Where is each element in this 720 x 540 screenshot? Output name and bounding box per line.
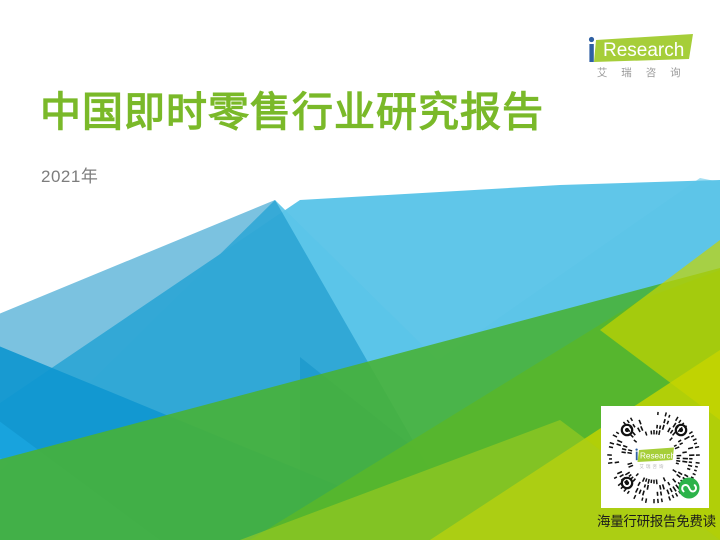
svg-text:Research: Research [640,452,675,461]
wechat-miniprogram-icon [679,478,700,499]
svg-text:艾瑞咨询: 艾瑞咨询 [640,463,666,470]
page-subtitle-year: 2021年 [41,162,98,187]
iresearch-logo-chinese: 艾 瑞 咨 询 [587,65,691,80]
iresearch-logo: Research 艾 瑞 咨 询 [583,32,695,84]
qr-caption: 海量行研报告免费读 [597,510,713,530]
svg-text:Research: Research [603,40,684,61]
qr-card[interactable]: Research 艾瑞咨询 海量行研报告免费读 [597,402,713,534]
wechat-miniprogram-qr-icon[interactable]: Research 艾瑞咨询 [601,406,709,508]
report-cover-slide: Research 艾 瑞 咨 询 中国即时零售行业研究报告 2021年 [0,0,720,540]
iresearch-logo-icon: Research [583,32,695,66]
page-title: 中国即时零售行业研究报告 [40,92,544,133]
